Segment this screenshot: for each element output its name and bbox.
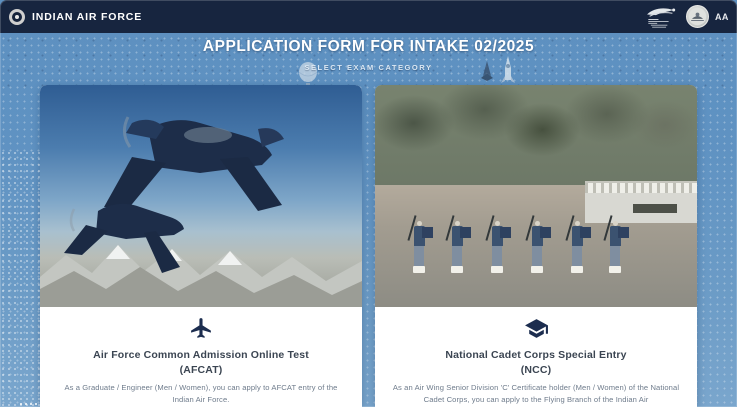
cadet-figure xyxy=(413,221,425,273)
cadet-figure xyxy=(451,221,463,273)
boundary-wall-graphic xyxy=(585,181,697,223)
brand-logo[interactable]: INDIAN AIR FORCE xyxy=(9,9,142,25)
ncc-card-abbr: (NCC) xyxy=(521,363,552,378)
wingman-aircraft-silhouette xyxy=(58,191,208,287)
site-header: INDIAN AIR FORCE AA xyxy=(0,0,737,33)
afcat-card-photo xyxy=(40,85,362,307)
cadet-figure xyxy=(491,221,503,273)
page-subtitle: SELECT EXAM CATEGORY xyxy=(0,63,737,72)
ncc-card-photo xyxy=(375,85,697,307)
cadet-figure xyxy=(531,221,543,273)
afcat-card-body: Air Force Common Admission Online Test (… xyxy=(40,307,362,407)
brand-label: INDIAN AIR FORCE xyxy=(32,11,142,23)
exam-category-card-afcat[interactable]: Air Force Common Admission Online Test (… xyxy=(40,85,362,407)
exam-category-card-ncc[interactable]: National Cadet Corps Special Entry (NCC)… xyxy=(375,85,697,407)
cadet-figure xyxy=(609,221,621,273)
iaf-roundel-icon xyxy=(9,9,25,25)
afcat-card-title: Air Force Common Admission Online Test xyxy=(93,348,309,363)
cadet-figure xyxy=(571,221,583,273)
national-emblem-icon xyxy=(686,5,709,28)
hero-titles: APPLICATION FORM FOR INTAKE 02/2025 SELE… xyxy=(0,38,737,72)
afcat-card-abbr: (AFCAT) xyxy=(180,363,223,378)
emblem-label: AA xyxy=(715,12,729,22)
ncc-card-description: As an Air Wing Senior Division 'C' Certi… xyxy=(389,382,683,407)
exam-category-cards: Air Force Common Admission Online Test (… xyxy=(0,85,737,407)
azadi-ka-amrit-mahotsav-logo xyxy=(642,4,680,30)
application-page: INDIAN AIR FORCE AA APPLICATI xyxy=(0,0,737,407)
page-title: APPLICATION FORM FOR INTAKE 02/2025 xyxy=(0,38,737,56)
header-right-logos: AA xyxy=(642,4,729,30)
graduation-cap-icon xyxy=(524,316,549,341)
bottom-dotted-divider xyxy=(20,403,110,405)
ncc-card-title: National Cadet Corps Special Entry xyxy=(445,348,626,363)
airplane-icon xyxy=(189,316,214,341)
ncc-card-body: National Cadet Corps Special Entry (NCC)… xyxy=(375,307,697,407)
